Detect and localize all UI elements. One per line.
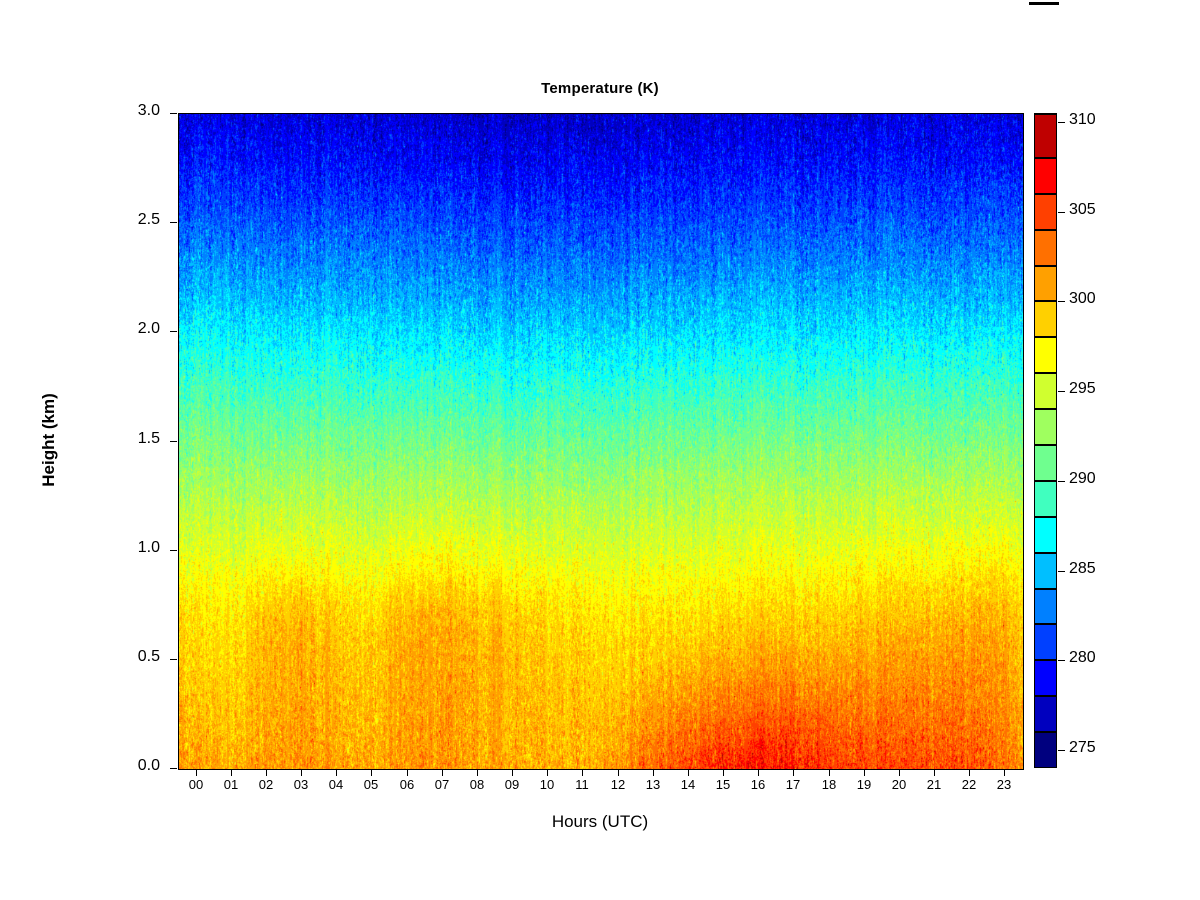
- y-axis-tick-label: 2.0: [100, 320, 160, 338]
- colorbar-tick: [1058, 301, 1065, 302]
- x-axis-tick-label: 03: [281, 777, 321, 792]
- x-axis-tick: [512, 769, 513, 776]
- x-axis-tick-label: 21: [914, 777, 954, 792]
- x-axis-tick-label: 23: [984, 777, 1024, 792]
- x-axis-tick-label: 00: [176, 777, 216, 792]
- colorbar-band: [1034, 624, 1057, 660]
- x-axis-tick-label: 20: [879, 777, 919, 792]
- x-axis-tick-label: 18: [809, 777, 849, 792]
- x-axis-tick: [758, 769, 759, 776]
- colorbar-tick: [1058, 122, 1065, 123]
- x-axis-tick: [829, 769, 830, 776]
- y-axis-tick: [170, 768, 177, 769]
- x-axis-tick: [442, 769, 443, 776]
- x-axis-tick: [723, 769, 724, 776]
- temperature-cross-section-figure: Temperature (K) 000102030405060708091011…: [0, 0, 1200, 900]
- x-axis-tick: [301, 769, 302, 776]
- y-axis-tick: [170, 331, 177, 332]
- colorbar-band: [1034, 337, 1057, 373]
- x-axis-tick: [653, 769, 654, 776]
- x-axis-tick: [969, 769, 970, 776]
- y-axis-tick-label: 0.5: [100, 648, 160, 666]
- colorbar-tick: [1058, 481, 1065, 482]
- y-axis-tick-label: 2.5: [100, 211, 160, 229]
- colorbar-band: [1034, 409, 1057, 445]
- colorbar-band: [1034, 301, 1057, 337]
- colorbar-tick: [1058, 660, 1065, 661]
- x-axis-tick: [582, 769, 583, 776]
- colorbar-band: [1034, 660, 1057, 696]
- colorbar-band: [1034, 230, 1057, 266]
- x-axis-tick-label: 08: [457, 777, 497, 792]
- x-axis-tick: [793, 769, 794, 776]
- colorbar-band: [1034, 696, 1057, 732]
- x-axis-tick: [407, 769, 408, 776]
- corner-rule-artifact: [1029, 2, 1059, 5]
- x-axis-tick: [266, 769, 267, 776]
- colorbar-tick: [1058, 571, 1065, 572]
- colorbar-tick: [1058, 212, 1065, 213]
- x-axis-tick-label: 04: [316, 777, 356, 792]
- temperature-heatmap: [179, 114, 1023, 769]
- colorbar-band: [1034, 517, 1057, 553]
- x-axis-tick-label: 17: [773, 777, 813, 792]
- x-axis-tick: [618, 769, 619, 776]
- x-axis-title: Hours (UTC): [178, 812, 1022, 832]
- x-axis-tick: [371, 769, 372, 776]
- x-axis-tick: [336, 769, 337, 776]
- colorbar-tick: [1058, 750, 1065, 751]
- y-axis-tick-label: 1.5: [100, 430, 160, 448]
- x-axis-tick-label: 07: [422, 777, 462, 792]
- x-axis-tick-label: 05: [351, 777, 391, 792]
- x-axis-tick-label: 11: [562, 777, 602, 792]
- y-axis-tick: [170, 550, 177, 551]
- colorbar-tick-label: 295: [1069, 380, 1096, 398]
- heatmap-plot-panel: [178, 113, 1024, 770]
- x-axis-tick-label: 14: [668, 777, 708, 792]
- x-axis-tick-label: 12: [598, 777, 638, 792]
- x-axis-tick-label: 01: [211, 777, 251, 792]
- colorbar-band: [1034, 553, 1057, 589]
- x-axis-tick-label: 22: [949, 777, 989, 792]
- colorbar-band: [1034, 266, 1057, 302]
- x-axis-tick: [934, 769, 935, 776]
- x-axis-tick: [899, 769, 900, 776]
- colorbar: [1034, 113, 1057, 768]
- x-axis-tick: [864, 769, 865, 776]
- x-axis-tick-label: 16: [738, 777, 778, 792]
- colorbar-band: [1034, 113, 1057, 115]
- x-axis-tick: [477, 769, 478, 776]
- colorbar-tick-label: 305: [1069, 201, 1096, 219]
- colorbar-tick-label: 280: [1069, 649, 1096, 667]
- x-axis-tick-label: 10: [527, 777, 567, 792]
- page-title: Temperature (K): [178, 80, 1022, 97]
- colorbar-band: [1034, 373, 1057, 409]
- colorbar-band: [1034, 158, 1057, 194]
- y-axis-tick-label: 3.0: [100, 102, 160, 120]
- x-axis-tick-label: 19: [844, 777, 884, 792]
- y-axis-tick-label: 0.0: [100, 757, 160, 775]
- x-axis-tick-label: 02: [246, 777, 286, 792]
- x-axis-tick-label: 06: [387, 777, 427, 792]
- colorbar-band: [1034, 481, 1057, 517]
- colorbar-tick: [1058, 391, 1065, 392]
- y-axis-tick: [170, 222, 177, 223]
- x-axis-tick: [688, 769, 689, 776]
- y-axis-tick: [170, 441, 177, 442]
- colorbar-band: [1034, 194, 1057, 230]
- x-axis-tick: [547, 769, 548, 776]
- x-axis-tick: [196, 769, 197, 776]
- colorbar-tick-label: 290: [1069, 470, 1096, 488]
- colorbar-band: [1034, 589, 1057, 625]
- y-axis-tick: [170, 659, 177, 660]
- colorbar-tick-label: 310: [1069, 111, 1096, 129]
- colorbar-band: [1034, 732, 1057, 768]
- x-axis-tick-label: 13: [633, 777, 673, 792]
- x-axis-tick-label: 15: [703, 777, 743, 792]
- colorbar-band: [1034, 445, 1057, 481]
- colorbar-band: [1034, 113, 1057, 158]
- y-axis-tick-label: 1.0: [100, 539, 160, 557]
- y-axis-tick: [170, 113, 177, 114]
- colorbar-tick-label: 285: [1069, 560, 1096, 578]
- x-axis-tick-label: 09: [492, 777, 532, 792]
- y-axis-title: Height (km): [39, 360, 59, 520]
- colorbar-tick-label: 275: [1069, 739, 1096, 757]
- colorbar-tick-label: 300: [1069, 290, 1096, 308]
- x-axis-tick: [231, 769, 232, 776]
- x-axis-tick: [1004, 769, 1005, 776]
